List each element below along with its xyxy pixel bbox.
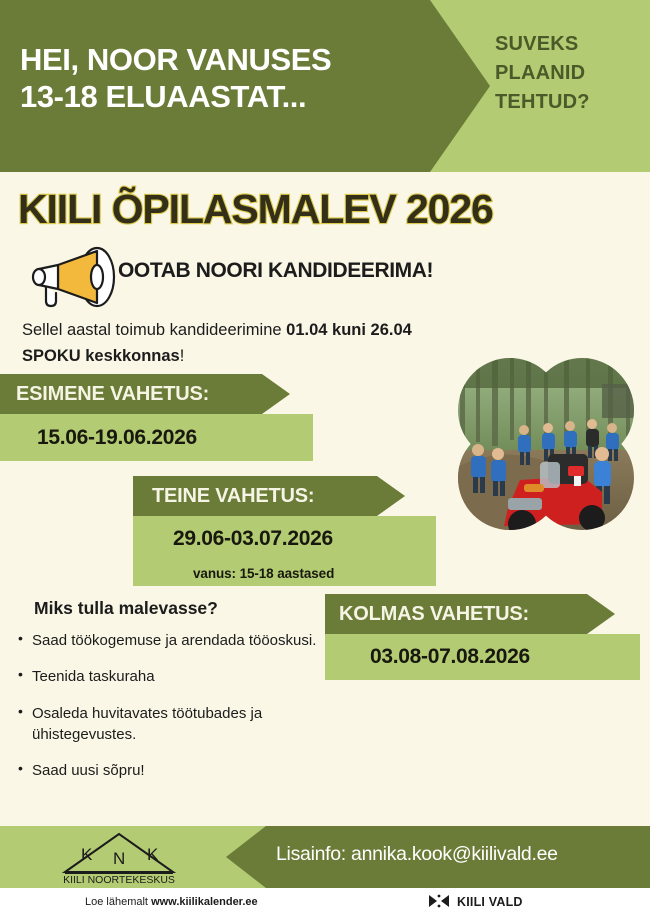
intro-environment: SPOKU keskkonnas [22,347,180,365]
header-side-line1: SUVEKS [495,30,640,59]
read-more-line: Loe lähemalt www.kiilikalender.ee [85,896,258,908]
contact-email[interactable]: Lisainfo: annika.kook@kiilivald.ee [276,843,558,866]
shift-block-2: TEINE VAHETUS: 29.06-03.07.2026 vanus: 1… [133,476,436,586]
megaphone-icon [24,246,116,308]
header-headline-line2: 13-18 ELUAASTAT... [20,79,430,116]
read-more-prefix: Loe lähemalt [85,896,148,908]
camp-photo [452,358,640,530]
reasons-title: Miks tulla malevasse? [34,598,218,619]
poster-root: HEI, NOOR VANUSES 13-18 ELUAASTAT... SUV… [0,0,650,919]
intro-paragraph: Sellel aastal toimub kandideerimine 01.0… [22,318,442,369]
shift-label-1: ESIMENE VAHETUS: [0,374,290,414]
header-side-line2: PLAANID [495,59,640,88]
shift-date-1: 15.06-19.06.2026 [0,414,313,461]
knk-letter-left: K [81,845,93,864]
header-headline-line1: HEI, NOOR VANUSES [20,42,430,79]
shift-date-3: 03.08-07.08.2026 [325,634,640,680]
intro-text-after: ! [180,347,185,365]
header-side-line3: TEHTUD? [495,88,640,117]
kiili-noortekeskus-logo: K N K KIILI NOORTEKESKUS [55,828,183,886]
header-headline: HEI, NOOR VANUSES 13-18 ELUAASTAT... [20,42,430,115]
shift-date-2: 29.06-03.07.2026 [133,516,436,561]
kiili-vald-logo: KIILI VALD [428,893,523,910]
reason-item: Saad uusi sõpru! [32,760,332,781]
read-more-url[interactable]: www.kiilikalender.ee [151,896,258,908]
shift-block-3: KOLMAS VAHETUS: 03.08-07.08.2026 [325,594,640,680]
kiili-vald-mark-icon [428,893,450,910]
header-banner: HEI, NOOR VANUSES 13-18 ELUAASTAT... SUV… [0,0,650,172]
intro-dates: 01.04 kuni 26.04 [286,321,412,339]
reason-item: Saad töökogemuse ja arendada tööoskusi. [32,630,332,651]
reasons-list: Saad töökogemuse ja arendada tööoskusi. … [14,630,332,796]
kiili-vald-name: KIILI VALD [457,895,523,909]
reason-item: Teenida taskuraha [32,666,332,687]
shift-note-2: vanus: 15-18 aastased [193,566,334,581]
reason-item: Osaleda huvitavates töötubades ja ühiste… [32,703,332,746]
shift-block-1: ESIMENE VAHETUS: 15.06-19.06.2026 [0,374,313,461]
shift-note-2-wrap: vanus: 15-18 aastased [133,561,436,586]
shift-label-2: TEINE VAHETUS: [133,476,405,516]
subtitle: OOTAB NOORI KANDIDEERIMA! [118,259,433,283]
header-side-question: SUVEKS PLAANID TEHTUD? [495,30,640,117]
knk-letter-mid: N [113,849,125,868]
knk-name: KIILI NOORTEKESKUS [63,874,175,886]
intro-text-before: Sellel aastal toimub kandideerimine [22,321,286,339]
knk-letter-right: K [147,845,159,864]
page-title: KIILI ÕPILASMALEV 2026 [18,186,493,233]
shift-label-3: KOLMAS VAHETUS: [325,594,615,634]
